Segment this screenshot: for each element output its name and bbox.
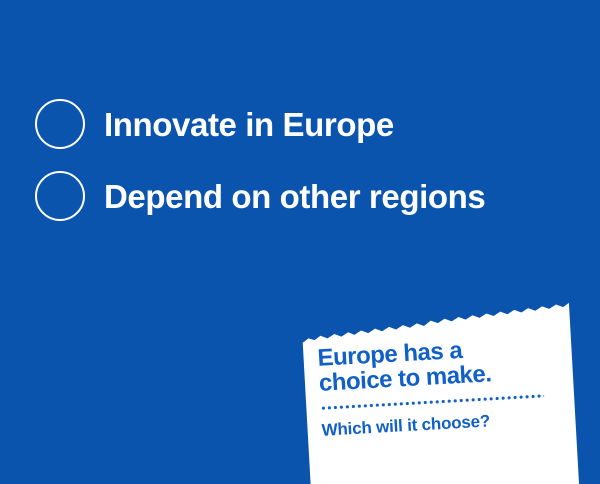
torn-paper-card: Europe has a choice to make. Which will …: [295, 297, 586, 484]
option-label: Innovate in Europe: [104, 108, 394, 141]
option-item-depend-on-other-regions[interactable]: Depend on other regions: [35, 165, 575, 227]
empty-circle-icon[interactable]: [35, 99, 85, 149]
empty-circle-icon[interactable]: [35, 171, 85, 221]
option-item-innovate-in-europe[interactable]: Innovate in Europe: [35, 93, 575, 155]
poster-canvas: Innovate in Europe Depend on other regio…: [0, 0, 600, 484]
option-label: Depend on other regions: [104, 180, 485, 213]
dotted-divider: [320, 394, 544, 409]
option-list: Innovate in Europe Depend on other regio…: [35, 93, 575, 237]
card-heading: Europe has a choice to make.: [317, 333, 557, 397]
card-content: Europe has a choice to make. Which will …: [317, 333, 560, 439]
